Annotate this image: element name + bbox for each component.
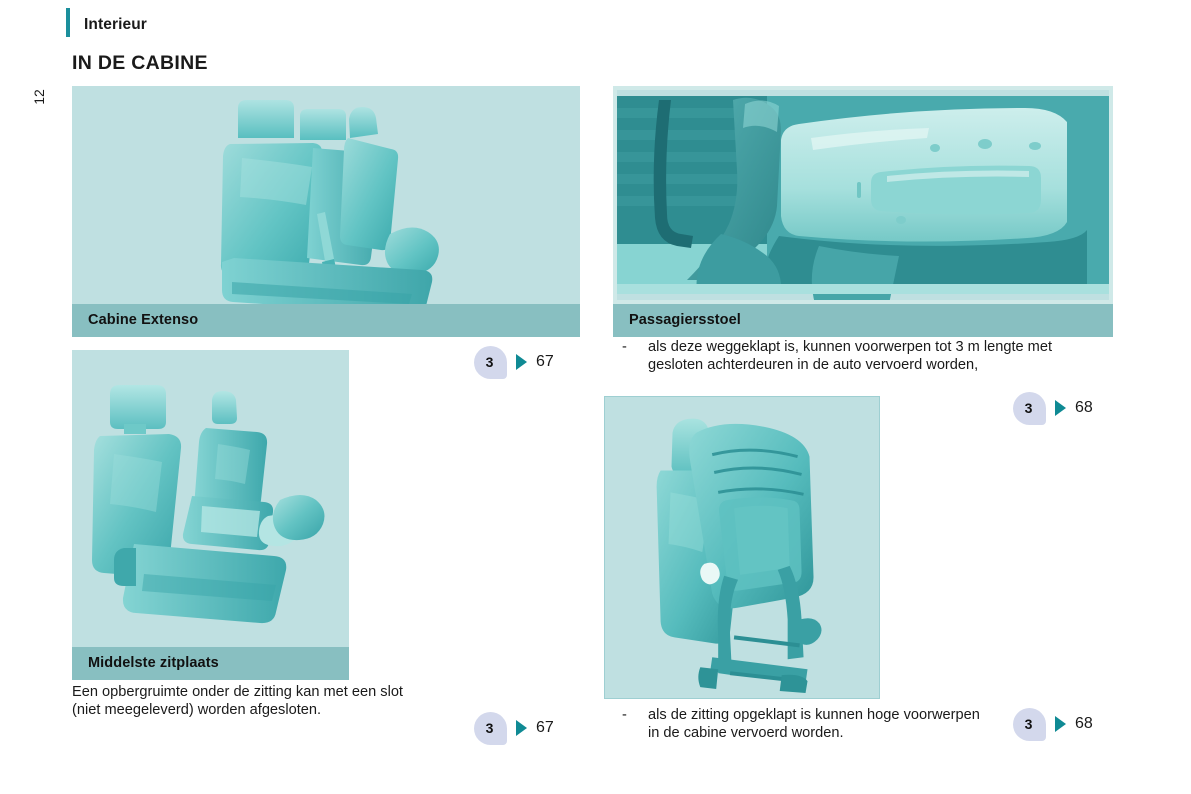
opgeklapte-zitting-image [604,396,880,699]
passagiersstoel-bullet: - als deze weggeklapt is, kunnen voorwer… [622,339,1097,375]
bullet-dash: - [622,707,648,743]
section-accent-bar [66,8,70,37]
page-title: IN DE CABINE [72,52,208,75]
figure-passagiersstoel: Passagiersstoel [613,86,1113,337]
triangle-arrow-icon [516,720,527,736]
page-ref-passagiersstoel[interactable]: 3 68 [1013,391,1093,425]
section-title: Interieur [84,16,147,34]
page-number: 67 [536,719,554,737]
chapter-badge: 3 [1013,708,1046,741]
chapter-number: 3 [474,346,507,379]
page-ref-middelste-zitplaats[interactable]: 3 67 [474,711,554,745]
cabine-extenso-image [72,86,580,304]
page-number: 68 [1075,399,1093,417]
opgeklapte-zitting-bullet: - als de zitting opgeklapt is kunnen hog… [622,707,992,743]
triangle-arrow-icon [1055,400,1066,416]
passagiersstoel-image [613,86,1113,304]
middelste-zitplaats-caption: Middelste zitplaats [72,647,349,680]
folded-up-seat-illustration [605,397,879,698]
figure-cabine-extenso: Cabine Extenso [72,86,580,337]
page-folio-number: 12 [24,82,54,112]
page-ref-opgeklapte-zitting[interactable]: 3 68 [1013,707,1093,741]
chapter-badge: 3 [1013,392,1046,425]
middelste-zitplaats-body-text: Een opbergruimte onder de zitting kan me… [72,684,422,720]
middelste-zitplaats-image [72,350,349,647]
triangle-arrow-icon [1055,716,1066,732]
bullet-text: als deze weggeklapt is, kunnen voorwerpe… [648,339,1097,375]
chapter-number: 3 [1013,708,1046,741]
chapter-number: 3 [474,712,507,745]
chapter-number: 3 [1013,392,1046,425]
triangle-arrow-icon [516,354,527,370]
bench-seat-row-illustration [72,86,580,304]
chapter-badge: 3 [474,346,507,379]
passenger-seat-door-panel-photo [613,86,1113,304]
page-number: 67 [536,353,554,371]
bullet-text: als de zitting opgeklapt is kunnen hoge … [648,707,992,743]
figure-middelste-zitplaats: Middelste zitplaats [72,350,349,680]
page-number: 68 [1075,715,1093,733]
bullet-dash: - [622,339,648,375]
figure-opgeklapte-zitting [604,396,880,699]
passagiersstoel-caption: Passagiersstoel [613,304,1113,337]
middle-seat-with-storage-illustration [72,350,349,647]
page-ref-cabine-extenso[interactable]: 3 67 [474,345,554,379]
cabine-extenso-caption: Cabine Extenso [72,304,580,337]
chapter-badge: 3 [474,712,507,745]
